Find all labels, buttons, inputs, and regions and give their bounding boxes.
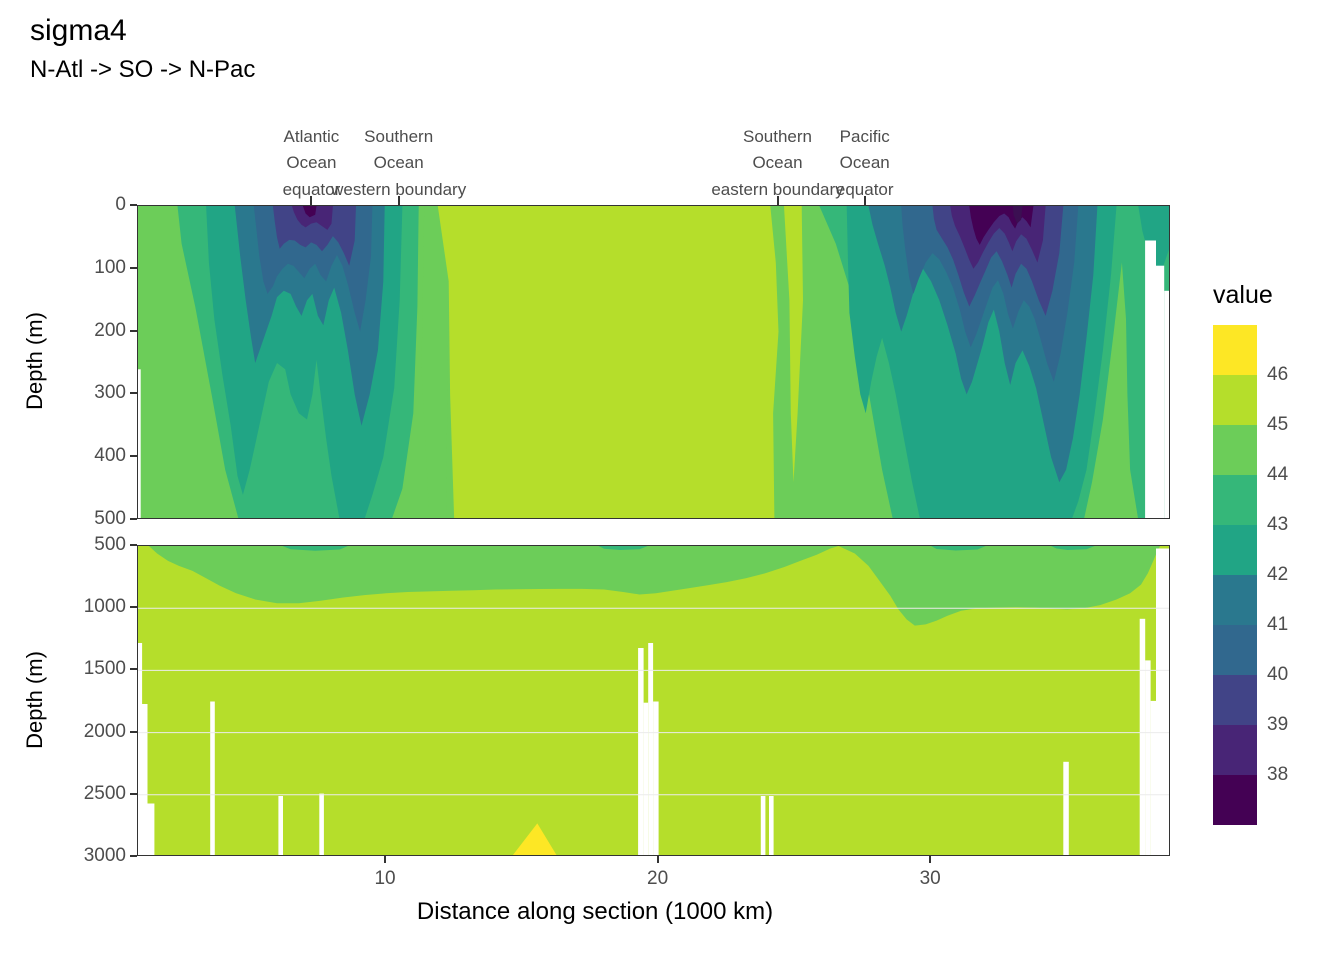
y-tick-bottom-label-1: 1000 bbox=[60, 596, 126, 618]
legend-key-41: 41 bbox=[1267, 614, 1288, 636]
contour-surface-lower bbox=[138, 546, 1170, 856]
y-tick-bottom-label-3: 2000 bbox=[60, 721, 126, 743]
legend-key-46: 46 bbox=[1267, 364, 1288, 386]
legend-swatch-7 bbox=[1213, 675, 1257, 725]
section-annotation-tick-3 bbox=[777, 196, 779, 205]
y-tick-bottom-label-0: 500 bbox=[60, 534, 126, 556]
legend-key-38: 38 bbox=[1267, 764, 1288, 786]
bathymetry-mask-lower-5 bbox=[319, 794, 324, 856]
section-annotation-tick-4 bbox=[864, 196, 866, 205]
bathymetry-mask-lower-13 bbox=[1140, 619, 1146, 856]
legend-swatch-4 bbox=[1213, 525, 1257, 575]
legend-key-42: 42 bbox=[1267, 564, 1288, 586]
y-tick-top-label-1: 100 bbox=[60, 257, 126, 279]
section-annotation-3: Southern Ocean eastern boundary bbox=[711, 124, 843, 203]
bathymetry-mask-upper-0 bbox=[138, 369, 141, 519]
y-tick-bottom-label-2: 1500 bbox=[60, 658, 126, 680]
y-tick-top-mark-1 bbox=[130, 267, 137, 269]
x-axis-title: Distance along section (1000 km) bbox=[0, 898, 1190, 926]
y-tick-bottom-label-5: 3000 bbox=[60, 845, 126, 867]
contour-panel-lower bbox=[137, 545, 1170, 856]
bathymetry-mask-lower-4 bbox=[278, 796, 283, 856]
legend-swatch-2 bbox=[1213, 425, 1257, 475]
y-tick-top-mark-5 bbox=[130, 518, 137, 520]
y-tick-bottom-mark-0 bbox=[130, 544, 137, 546]
x-tick-mark-1 bbox=[657, 856, 659, 863]
legend-swatch-1 bbox=[1213, 375, 1257, 425]
legend-title: value bbox=[1213, 281, 1331, 310]
x-tick-mark-0 bbox=[384, 856, 386, 863]
y-tick-top-label-0: 0 bbox=[60, 194, 126, 216]
bathymetry-mask-lower-7 bbox=[644, 703, 649, 856]
band-45-46-southern-ocean bbox=[438, 206, 779, 519]
x-tick-mark-2 bbox=[929, 856, 931, 863]
bathymetry-mask-lower-9 bbox=[653, 702, 659, 857]
bathymetry-mask-upper-2 bbox=[1156, 266, 1164, 519]
bathymetry-mask-lower-16 bbox=[1156, 549, 1170, 857]
legend-key-43: 43 bbox=[1267, 514, 1288, 536]
bathymetry-mask-upper-1 bbox=[1145, 241, 1156, 520]
legend-swatch-6 bbox=[1213, 625, 1257, 675]
legend: value 464544434241403938 bbox=[1211, 281, 1331, 324]
contour-panel-upper bbox=[137, 205, 1170, 519]
contour-surface-upper bbox=[138, 206, 1170, 519]
bathymetry-mask-lower-6 bbox=[638, 648, 644, 856]
bathymetry-mask-lower-12 bbox=[1063, 762, 1069, 856]
section-annotation-4: Pacific Ocean equator bbox=[836, 124, 894, 203]
bathymetry-mask-lower-11 bbox=[769, 796, 774, 856]
bathymetry-mask-lower-3 bbox=[210, 702, 215, 857]
x-tick-label-1: 20 bbox=[647, 868, 668, 890]
section-annotation-tick-2 bbox=[398, 196, 400, 205]
y-tick-bottom-mark-3 bbox=[130, 731, 137, 733]
legend-key-45: 45 bbox=[1267, 414, 1288, 436]
legend-swatch-5 bbox=[1213, 575, 1257, 625]
x-tick-label-0: 10 bbox=[374, 868, 395, 890]
y-tick-top-mark-4 bbox=[130, 455, 137, 457]
y-tick-bottom-mark-1 bbox=[130, 606, 137, 608]
y-axis-title-top: Depth (m) bbox=[22, 286, 48, 436]
y-tick-bottom-mark-4 bbox=[130, 793, 137, 795]
section-annotation-2: Southern Ocean western boundary bbox=[331, 124, 466, 203]
legend-key-39: 39 bbox=[1267, 714, 1288, 736]
bathymetry-mask-lower-2 bbox=[138, 804, 154, 857]
y-tick-top-mark-2 bbox=[130, 330, 137, 332]
legend-swatch-8 bbox=[1213, 725, 1257, 775]
y-tick-top-label-5: 500 bbox=[60, 508, 126, 530]
page-subtitle: N-Atl -> SO -> N-Pac bbox=[30, 56, 255, 84]
legend-swatch-3 bbox=[1213, 475, 1257, 525]
y-tick-bottom-mark-2 bbox=[130, 668, 137, 670]
plot-root: sigma4 N-Atl -> SO -> N-Pac Atlantic Oce… bbox=[0, 0, 1344, 960]
legend-colorbar bbox=[1213, 325, 1257, 825]
bathymetry-mask-lower-10 bbox=[761, 796, 766, 856]
bathymetry-mask-lower-8 bbox=[648, 643, 653, 856]
x-tick-label-2: 30 bbox=[920, 868, 941, 890]
y-axis-title-bottom: Depth (m) bbox=[22, 625, 48, 775]
y-tick-top-mark-0 bbox=[130, 204, 137, 206]
legend-swatch-0 bbox=[1213, 325, 1257, 375]
bathymetry-mask-upper-3 bbox=[1164, 291, 1170, 519]
legend-swatch-9 bbox=[1213, 775, 1257, 825]
page-title: sigma4 bbox=[30, 14, 127, 48]
y-tick-bottom-label-4: 2500 bbox=[60, 783, 126, 805]
y-tick-top-label-2: 200 bbox=[60, 320, 126, 342]
y-tick-top-label-4: 400 bbox=[60, 445, 126, 467]
y-tick-top-label-3: 300 bbox=[60, 382, 126, 404]
legend-key-40: 40 bbox=[1267, 664, 1288, 686]
section-annotation-tick-1 bbox=[310, 196, 312, 205]
legend-key-44: 44 bbox=[1267, 464, 1288, 486]
y-tick-top-mark-3 bbox=[130, 392, 137, 394]
y-tick-bottom-mark-5 bbox=[130, 855, 137, 857]
bathymetry-mask-lower-14 bbox=[1145, 660, 1151, 856]
bathymetry-mask-lower-15 bbox=[1151, 701, 1157, 856]
